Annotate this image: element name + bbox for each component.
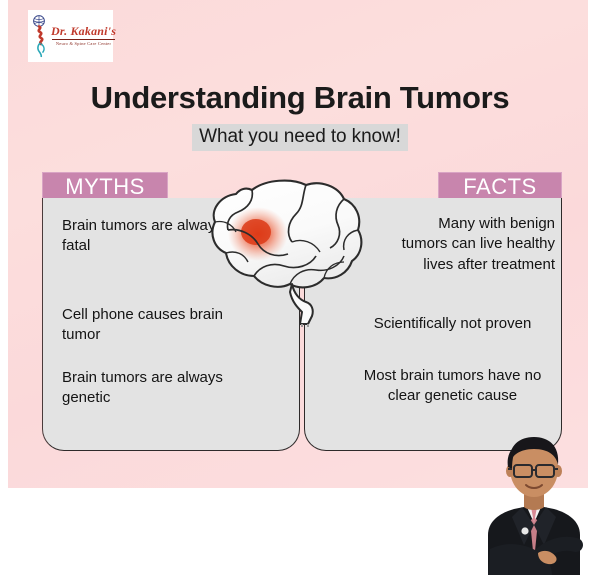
list-item: Many with benign tumors can live healthy… [395, 214, 555, 275]
right-white-margin [588, 0, 600, 488]
facts-banner: FACTS [438, 172, 562, 200]
logo-tagline-text: Neuro & Spine Care Center [49, 42, 117, 46]
myths-banner: MYTHS [42, 172, 168, 200]
doctor-portrait [478, 425, 588, 575]
logo-name-text: Dr. Kakani's [51, 25, 116, 37]
brain-with-tumor-illustration [196, 172, 376, 327]
list-item: Brain tumors are always genetic [62, 368, 247, 408]
subtitle-row: What you need to know! [0, 124, 600, 151]
brain-spine-icon [31, 14, 51, 58]
list-item: Most brain tumors have no clear genetic … [350, 366, 555, 407]
infographic-poster: Dr. Kakani's Neuro & Spine Care Center U… [0, 0, 600, 575]
clinic-logo: Dr. Kakani's Neuro & Spine Care Center [28, 10, 113, 62]
page-subtitle: What you need to know! [192, 124, 408, 151]
list-item: Scientifically not proven [350, 314, 555, 334]
page-title: Understanding Brain Tumors [0, 80, 600, 116]
